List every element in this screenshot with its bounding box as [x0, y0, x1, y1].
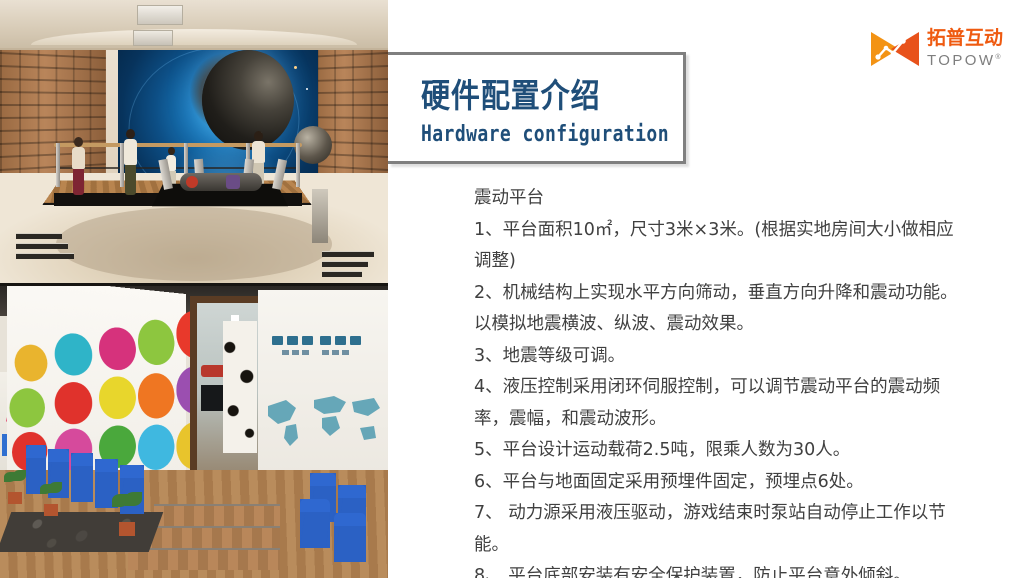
vibration-platform [46, 137, 311, 219]
photo-exhibition-hall [0, 286, 388, 578]
planet-large [202, 50, 294, 150]
steps-right [322, 247, 374, 277]
info-circle [9, 388, 45, 428]
steps-left [16, 229, 74, 259]
brand-logo: 拓普互动 TOPOW® [869, 27, 1009, 73]
body-copy: 震动平台 1、平台面积10㎡，尺寸3米×3米。(根据实地房间大小做相应调整) 2… [474, 183, 962, 578]
world-map-graphic [262, 390, 384, 448]
body-item: 4、液压控制采用闭环伺服控制，可以调节震动平台的震动频率，震幅，和震动波形。 [474, 372, 962, 435]
photo-earthquake-simulation-platform-render [0, 0, 388, 283]
logo-name-cn: 拓普互动 [927, 27, 1003, 49]
body-item: 7、 动力源采用液压驱动，游戏结束时泵站自动停止工作以节能。 [474, 498, 962, 561]
info-circle [55, 382, 93, 425]
rail-post [296, 143, 300, 187]
registered-mark: ® [995, 54, 1003, 61]
logo-name-en-text: TOPOW [927, 52, 995, 69]
potted-plant [4, 470, 26, 504]
slogan-strokes-icon [268, 334, 378, 360]
visitor-figure [72, 137, 85, 195]
page-title-cn: 硬件配置介绍 [421, 69, 601, 117]
info-circle [138, 318, 174, 365]
bowtie-mark-svg [869, 29, 921, 69]
projector-lower [133, 30, 173, 46]
logo-text-block: 拓普互动 TOPOW® [927, 27, 1003, 69]
decorative-cutout-panel [223, 321, 257, 453]
info-circle [99, 326, 136, 370]
page-title-en: Hardware configuration [421, 122, 669, 147]
simulation-room-scene [0, 0, 388, 283]
body-item: 6、平台与地面固定采用预埋件固定，预埋点6处。 [474, 467, 962, 499]
stair-tread [142, 526, 280, 548]
equipment-cabinet [312, 189, 328, 243]
potted-plant [40, 482, 62, 516]
info-circle [15, 344, 48, 382]
blue-seat [334, 513, 366, 562]
slide-hardware-configuration: 硬件配置介绍 Hardware configuration 拓普互动 TOPOW… [0, 0, 1025, 578]
hydraulic-valve-violet [226, 175, 240, 189]
body-item: 8、 平台底部安装有安全保护装置，防止平台意外倾斜。 [474, 561, 962, 578]
stair-tread [128, 548, 280, 570]
body-item: 5、平台设计运动载荷2.5吨，限乘人数为30人。 [474, 435, 962, 467]
title-box: 硬件配置介绍 Hardware configuration [388, 52, 686, 164]
stair-tread [154, 504, 280, 526]
info-circle [138, 373, 174, 419]
exhibition-hall-scene [0, 286, 388, 578]
hydraulic-valve-red [186, 176, 198, 188]
star [306, 88, 308, 90]
rail-post [56, 143, 60, 187]
info-circle [99, 376, 136, 419]
wall-slogan-text [268, 334, 378, 360]
body-item: 2、机械结构上实现水平方向筛动，垂直方向升降和震动功能。以模拟地震横波、纵波、震… [474, 278, 962, 341]
info-circle [55, 332, 93, 376]
blue-seat [300, 499, 330, 548]
potted-plant [112, 492, 142, 536]
world-map-icon [262, 390, 384, 448]
body-item: 3、地震等级可调。 [474, 341, 962, 373]
logo-name-en: TOPOW® [927, 49, 1003, 69]
blue-seat [71, 453, 93, 502]
hydraulic-unit [180, 173, 262, 191]
photo-column [0, 0, 388, 578]
visitor-figure [124, 129, 137, 195]
body-item: 1、平台面积10㎡，尺寸3米×3米。(根据实地房间大小做相应调整) [474, 215, 962, 278]
projector-upper [137, 5, 183, 25]
topow-bowtie-logo-icon [869, 29, 921, 69]
star [294, 66, 297, 69]
body-heading: 震动平台 [474, 183, 962, 215]
ceiling [0, 0, 388, 50]
